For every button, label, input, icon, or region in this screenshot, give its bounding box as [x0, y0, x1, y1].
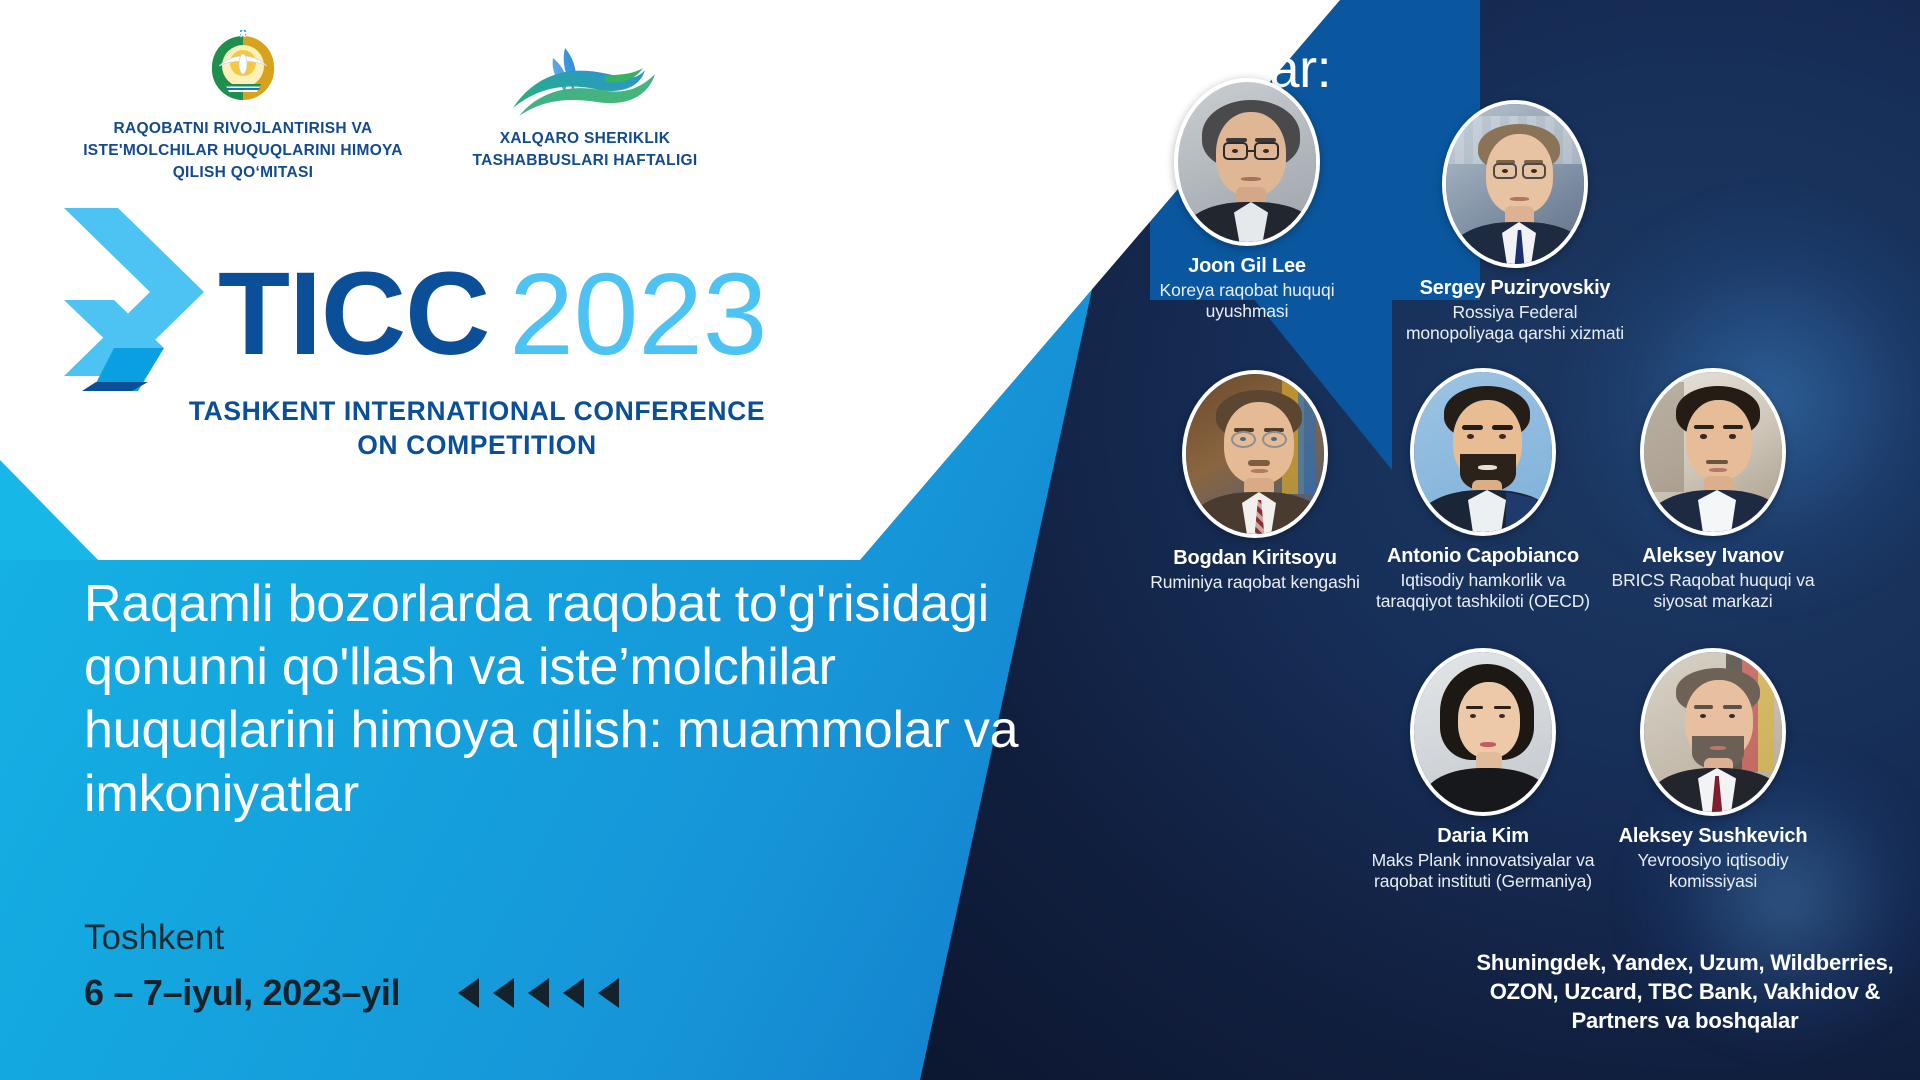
bird-wave-icon	[505, 44, 665, 120]
speaker-card: Aleksey Ivanov BRICS Raqobat huquqi va s…	[1598, 368, 1828, 612]
logo-committee: RAQOBATNI RIVOJLANTIRISH VA ISTE'MOLCHIL…	[78, 22, 408, 184]
portrait-illustration	[1186, 374, 1324, 534]
speaker-org: Koreya raqobat huquqi uyushmasi	[1132, 280, 1362, 322]
speaker-card: Joon Gil Lee Koreya raqobat huquqi uyush…	[1132, 78, 1362, 322]
speaker-avatar	[1640, 368, 1786, 536]
ticc-chevron-mark-icon	[52, 196, 204, 391]
ticc-acronym: TICC	[218, 260, 489, 369]
speaker-card: Daria Kim Maks Plank innovatsiyalar va r…	[1368, 648, 1598, 892]
additional-participants-note: Shuningdek, Yandex, Uzum, Wildberries, O…	[1470, 948, 1900, 1035]
ticc-logo: TICC 2023 TASHKENT INTERNATIONAL CONFERE…	[52, 196, 842, 463]
speaker-name: Sergey Puziryovskiy	[1400, 277, 1630, 300]
speaker-org: Maks Plank innovatsiyalar va raqobat ins…	[1368, 850, 1598, 892]
portrait-illustration	[1644, 372, 1782, 532]
ticc-subtitle-line1: TASHKENT INTERNATIONAL CONFERENCE	[112, 395, 842, 429]
left-arrow-icon	[458, 978, 479, 1008]
portrait-illustration	[1414, 652, 1552, 812]
left-arrow-icon	[598, 978, 619, 1008]
ticc-subtitle: TASHKENT INTERNATIONAL CONFERENCE ON COM…	[52, 395, 842, 463]
ticc-subtitle-line2: ON COMPETITION	[112, 429, 842, 463]
speaker-card: Aleksey Sushkevich Yevroosiyo iqtisodiy …	[1598, 648, 1828, 892]
left-arrow-icon	[528, 978, 549, 1008]
speaker-name: Aleksey Sushkevich	[1598, 825, 1828, 848]
speaker-avatar	[1442, 100, 1588, 268]
speaker-org: BRICS Raqobat huquqi va siyosat markazi	[1598, 570, 1828, 612]
left-arrow-icon	[563, 978, 584, 1008]
speaker-card: Antonio Capobianco Iqtisodiy hamkorlik v…	[1368, 368, 1598, 612]
speaker-name: Joon Gil Lee	[1132, 255, 1362, 278]
speaker-org: Ruminiya raqobat kengashi	[1140, 572, 1370, 593]
logo-committee-caption: RAQOBATNI RIVOJLANTIRISH VA ISTE'MOLCHIL…	[78, 118, 408, 184]
speaker-avatar	[1174, 78, 1320, 246]
speaker-avatar	[1410, 648, 1556, 816]
conference-date-row: 6 – 7–iyul, 2023–yil	[84, 972, 619, 1014]
speaker-name: Daria Kim	[1368, 825, 1598, 848]
portrait-illustration	[1446, 104, 1584, 264]
conference-poster: RAQOBATNI RIVOJLANTIRISH VA ISTE'MOLCHIL…	[0, 0, 1920, 1080]
speaker-card: Sergey Puziryovskiy Rossiya Federal mono…	[1400, 100, 1630, 344]
portrait-illustration	[1414, 372, 1552, 532]
conference-city: Toshkent	[84, 918, 224, 958]
speaker-card: Bogdan Kiritsoyu Ruminiya raqobat kengas…	[1140, 370, 1370, 593]
speaker-avatar	[1640, 648, 1786, 816]
caption-line: TASHABBUSLARI HAFTALIGI	[420, 150, 750, 172]
logo-partnership-week: XALQARO SHERIKLIK TASHABBUSLARI HAFTALIG…	[420, 44, 750, 172]
caption-line: QILISH QO‘MITASI	[78, 162, 408, 184]
left-arrow-icon	[493, 978, 514, 1008]
uzbekistan-emblem-icon	[199, 22, 287, 110]
ticc-year: 2023	[509, 261, 767, 368]
speaker-avatar	[1182, 370, 1328, 538]
caption-line: ISTE'MOLCHILAR HUQUQLARINI HIMOYA	[78, 140, 408, 162]
speaker-name: Aleksey Ivanov	[1598, 545, 1828, 568]
conference-date: 6 – 7–iyul, 2023–yil	[84, 972, 400, 1014]
speaker-org: Yevroosiyo iqtisodiy komissiyasi	[1598, 850, 1828, 892]
logo-partnership-caption: XALQARO SHERIKLIK TASHABBUSLARI HAFTALIG…	[420, 128, 750, 172]
portrait-illustration	[1644, 652, 1782, 812]
caption-line: XALQARO SHERIKLIK	[420, 128, 750, 150]
arrow-decoration	[458, 978, 619, 1008]
speaker-avatar	[1410, 368, 1556, 536]
speaker-org: Iqtisodiy hamkorlik va taraqqiyot tashki…	[1368, 570, 1598, 612]
speaker-name: Bogdan Kiritsoyu	[1140, 547, 1370, 570]
speaker-name: Antonio Capobianco	[1368, 545, 1598, 568]
conference-title: Raqamli bozorlarda raqobat to'g'risidagi…	[84, 573, 1094, 826]
speaker-org: Rossiya Federal monopoliyaga qarshi xizm…	[1400, 302, 1630, 344]
portrait-illustration	[1178, 82, 1316, 242]
caption-line: RAQOBATNI RIVOJLANTIRISH VA	[78, 118, 408, 140]
